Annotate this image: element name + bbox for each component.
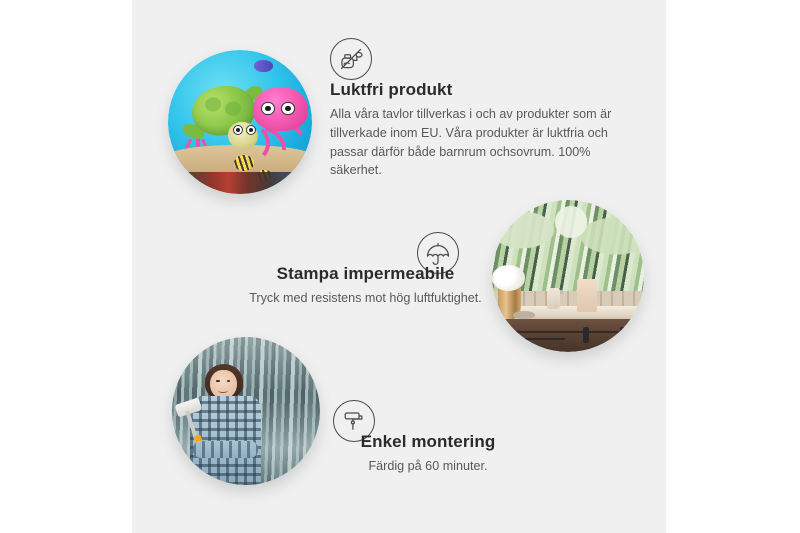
underwater-photo-inner [168,50,312,194]
feature-block-easy-mounting: Enkel montering Färdig på 60 minuter. [302,432,554,476]
cabinet-handle [583,327,589,343]
soap-dish [513,311,534,319]
underwater-kids-scene-photo [168,50,312,194]
sea-bottom-strip [168,172,312,194]
feature-block-waterproof: Stampa impermeabile Tryck med resistens … [208,264,523,308]
feature-block-odor-free: Luktfri produkt Alla våra tavlor tillver… [330,80,635,180]
blue-fish [254,60,273,72]
infographic-canvas: Luktfri produkt Alla våra tavlor tillver… [132,0,666,533]
feature-heading: Stampa impermeabile [208,264,523,284]
octopus-eye [261,102,275,116]
wooden-vanity [492,319,644,352]
octopus-eye [281,102,295,116]
no-perfume-spray-icon [330,38,372,80]
painter-photo-inner [172,337,320,485]
infographic-page: Luktfri produkt Alla våra tavlor tillver… [0,0,800,533]
drawer-handle [525,338,565,340]
feature-heading: Luktfri produkt [330,80,635,100]
feature-body: Färdig på 60 minuter. [302,457,554,476]
cabinet-handle [620,327,626,343]
woman-smile [218,387,228,392]
rolled-towel [577,279,597,312]
feature-heading: Enkel montering [302,432,554,452]
feature-body: Tryck med resistens mot hög luftfuktighe… [208,289,523,308]
feature-body: Alla våra tavlor tillverkas i och av pro… [330,105,635,180]
painter-woman-forest-photo [172,337,320,485]
woman-folded-arms [193,441,258,459]
soap-bottle [547,288,561,309]
